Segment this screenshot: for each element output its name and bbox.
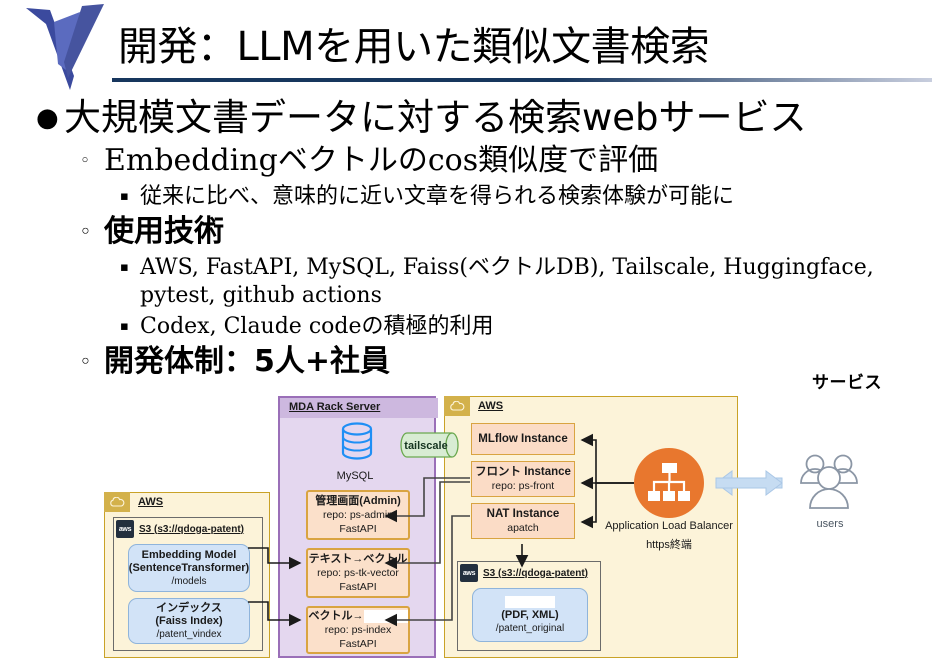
admin-service-title: 管理画面(Admin) [315,494,401,508]
service-label: サービス [812,368,882,393]
bullet-list: ● 大規模文書データに対する検索webサービス ◦ Embeddingベクトルの… [0,92,944,381]
bullet-level3-text: 従来に比べ、意味的に近い文章を得られる検索体験が可能に [140,184,734,209]
faiss-index-title: インデックス [156,602,222,615]
aws-cloud-icon [444,396,470,416]
mlflow-instance-box: MLflow Instance [471,423,575,455]
patent-original-path: /patent_original [496,622,564,635]
bullet-level3: ▪ AWS, FastAPI, MySQL, Faiss(ベクトルDB), Ta… [0,254,944,310]
alb-caption-primary: Application Load Balancer [584,520,754,532]
vector-index-title: ベクトル→ [309,609,408,623]
redaction-block [364,610,408,623]
aws-right-title: AWS [478,400,503,412]
header-divider [112,78,932,82]
s3-right-title: S3 (s3://qdoga-patent) [483,568,588,579]
nat-instance-subtitle: apatch [507,521,539,535]
alb-caption-secondary: https終端 [584,536,754,552]
bullet-level1-text: 大規模文書データに対する検索webサービス [64,96,807,139]
faiss-index-subtitle: (Faiss Index) [155,615,222,628]
users-label: users [780,518,880,530]
checkmark-logo [20,4,120,90]
aws-s3-icon: aws [116,520,134,538]
admin-service-box: 管理画面(Admin) repo: ps-admin FastAPI [306,490,410,540]
slide-header: 開発：LLMを用いた類似文書検索 [0,0,944,92]
bullet-level2: ◦ Embeddingベクトルのcos類似度で評価 [0,142,944,180]
s3-left-header: aws S3 (s3://qdoga-patent) [116,520,244,538]
nat-instance-title: NAT Instance [487,507,560,521]
text-to-vector-repo: repo: ps-tk-vector [317,566,399,580]
vector-index-repo: repo: ps-index [325,623,392,637]
bullet-level2-text: Embeddingベクトルのcos類似度で評価 [104,143,658,178]
bullet-marker-2: ◦ [80,343,91,381]
bullet-level2-text: 使用技術 [104,214,224,249]
vector-index-box: ベクトル→ repo: ps-index FastAPI [306,606,410,654]
database-cylinder-icon [335,420,379,464]
nat-instance-box: NAT Instance apatch [471,503,575,539]
aws-s3-icon: aws [460,564,478,582]
mda-title: MDA Rack Server [289,401,380,413]
patent-original-redaction [505,596,555,609]
aws-cloud-icon [104,492,130,512]
s3-right-header: aws S3 (s3://qdoga-patent) [460,564,588,582]
patent-original-box: (PDF, XML) /patent_original [472,588,588,642]
page-title: 開発：LLMを用いた類似文書検索 [118,14,709,72]
bullet-level2: ◦ 開発体制：5人+社員 [0,343,944,381]
vector-index-framework: FastAPI [339,637,376,651]
bullet-level1: ● 大規模文書データに対する検索webサービス [0,96,944,140]
s3-bucket-right: aws S3 (s3://qdoga-patent) (PDF, XML) /p… [457,561,601,651]
bullet-level3: ▪ 従来に比べ、意味的に近い文章を得られる検索体験が可能に [0,183,944,211]
faiss-index-path: /patent_vindex [156,628,221,641]
front-instance-repo: repo: ps-front [492,479,554,493]
embedding-model-box: Embedding Model (SentenceTransformer) /m… [128,544,250,592]
svg-text:tailscale: tailscale [404,440,447,452]
text-to-vector-box: テキスト→ベクトル repo: ps-tk-vector FastAPI [306,548,410,598]
bullet-marker-2: ◦ [80,213,91,251]
admin-service-repo: repo: ps-admin [323,508,393,522]
faiss-index-box: インデックス (Faiss Index) /patent_vindex [128,598,250,644]
mlflow-instance-title: MLflow Instance [478,432,567,446]
bullet-marker-3: ▪ [120,313,129,341]
front-instance-box: フロント Instance repo: ps-front [471,461,575,497]
aws-left-group: AWS aws S3 (s3://qdoga-patent) Embedding… [104,492,270,658]
bullet-level2: ◦ 使用技術 [0,213,944,251]
embedding-model-title: Embedding Model [142,549,237,562]
text-to-vector-framework: FastAPI [339,580,376,594]
mysql-label: MySQL [318,470,392,482]
front-instance-title: フロント Instance [475,465,571,479]
bullet-level3-text: AWS, FastAPI, MySQL, Faiss(ベクトルDB), Tail… [140,255,874,308]
redaction-block [505,596,555,608]
users-group-icon [793,452,865,514]
bullet-level2-text: 開発体制：5人+社員 [104,344,390,379]
bullet-level3: ▪ Codex, Claude codeの積極的利用 [0,313,944,341]
tailscale-badge: tailscale [400,432,462,458]
bullet-marker-3: ▪ [120,254,129,282]
embedding-model-subtitle: (SentenceTransformer) [129,562,249,575]
load-balancer-icon [634,448,704,518]
s3-left-title: S3 (s3://qdoga-patent) [139,524,244,535]
aws-left-header: AWS [104,492,163,512]
s3-bucket-left: aws S3 (s3://qdoga-patent) Embedding Mod… [113,517,263,651]
text-to-vector-title: テキスト→ベクトル [309,552,408,566]
bullet-marker-2: ◦ [80,142,90,180]
embedding-model-path: /models [171,575,206,588]
patent-original-format: (PDF, XML) [501,609,558,622]
admin-service-framework: FastAPI [339,522,376,536]
bullet-marker-1: ● [36,96,59,140]
aws-left-title: AWS [138,496,163,508]
aws-right-header: AWS [444,396,503,416]
bullet-level3-text: Codex, Claude codeの積極的利用 [140,314,494,339]
bullet-marker-3: ▪ [120,183,129,211]
